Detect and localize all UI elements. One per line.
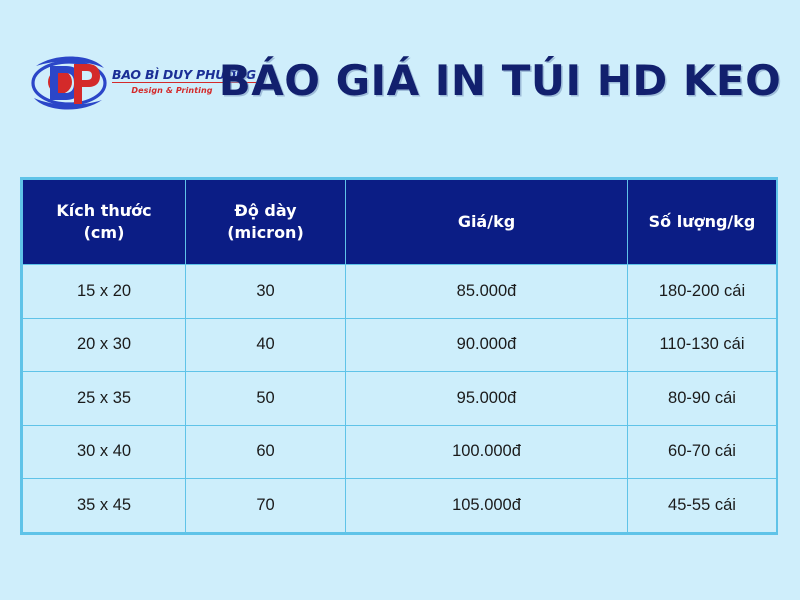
column-header-size: Kích thước (cm) (23, 180, 186, 265)
table-row: 35 x 45 70 105.000đ 45-55 cái (23, 479, 777, 533)
table-row: 30 x 40 60 100.000đ 60-70 cái (23, 425, 777, 479)
brand-tagline: Design & Printing (112, 86, 232, 95)
page-header: BAO BÌ DUY PHƯƠNG Design & Printing BÁO … (0, 0, 800, 160)
column-header-thickness: Độ dày (micron) (186, 180, 346, 265)
cell-quantity: 110-130 cái (628, 318, 777, 372)
brand-text-block: BAO BÌ DUY PHƯƠNG Design & Printing (112, 66, 232, 95)
cell-price: 90.000đ (346, 318, 628, 372)
cell-price: 105.000đ (346, 479, 628, 533)
column-header-size-line2: (cm) (29, 222, 179, 244)
cell-thickness: 70 (186, 479, 346, 533)
column-header-size-line1: Kích thước (29, 200, 179, 222)
cell-size: 30 x 40 (23, 425, 186, 479)
column-header-price-line1: Giá/kg (352, 211, 621, 233)
cell-thickness: 40 (186, 318, 346, 372)
table-header: Kích thước (cm) Độ dày (micron) Giá/kg S… (23, 180, 777, 265)
cell-quantity: 80-90 cái (628, 372, 777, 426)
table-row: 15 x 20 30 85.000đ 180-200 cái (23, 265, 777, 319)
column-header-thickness-line1: Độ dày (192, 200, 339, 222)
cell-quantity: 180-200 cái (628, 265, 777, 319)
cell-size: 25 x 35 (23, 372, 186, 426)
table-body: 15 x 20 30 85.000đ 180-200 cái 20 x 30 4… (23, 265, 777, 533)
page-title-text: BÁO GIÁ IN TÚI HD KEO (219, 56, 782, 105)
price-list-page: BAO BÌ DUY PHƯƠNG Design & Printing BÁO … (0, 0, 800, 600)
table-header-row: Kích thước (cm) Độ dày (micron) Giá/kg S… (23, 180, 777, 265)
cell-price: 95.000đ (346, 372, 628, 426)
price-table: Kích thước (cm) Độ dày (micron) Giá/kg S… (22, 179, 777, 533)
cell-price: 85.000đ (346, 265, 628, 319)
cell-price: 100.000đ (346, 425, 628, 479)
cell-thickness: 30 (186, 265, 346, 319)
table-row: 25 x 35 50 95.000đ 80-90 cái (23, 372, 777, 426)
cell-size: 15 x 20 (23, 265, 186, 319)
cell-quantity: 60-70 cái (628, 425, 777, 479)
cell-thickness: 50 (186, 372, 346, 426)
cell-size: 20 x 30 (23, 318, 186, 372)
page-title: BÁO GIÁ IN TÚI HD KEO (215, 0, 785, 160)
column-header-thickness-line2: (micron) (192, 222, 339, 244)
column-header-quantity: Số lượng/kg (628, 180, 777, 265)
cell-thickness: 60 (186, 425, 346, 479)
dp-monogram-icon (30, 52, 108, 114)
column-header-price: Giá/kg (346, 180, 628, 265)
table-row: 20 x 30 40 90.000đ 110-130 cái (23, 318, 777, 372)
price-table-container: Kích thước (cm) Độ dày (micron) Giá/kg S… (20, 177, 778, 535)
cell-size: 35 x 45 (23, 479, 186, 533)
column-header-quantity-line1: Số lượng/kg (634, 211, 770, 233)
company-logo: BAO BÌ DUY PHƯƠNG Design & Printing (30, 48, 220, 120)
cell-quantity: 45-55 cái (628, 479, 777, 533)
